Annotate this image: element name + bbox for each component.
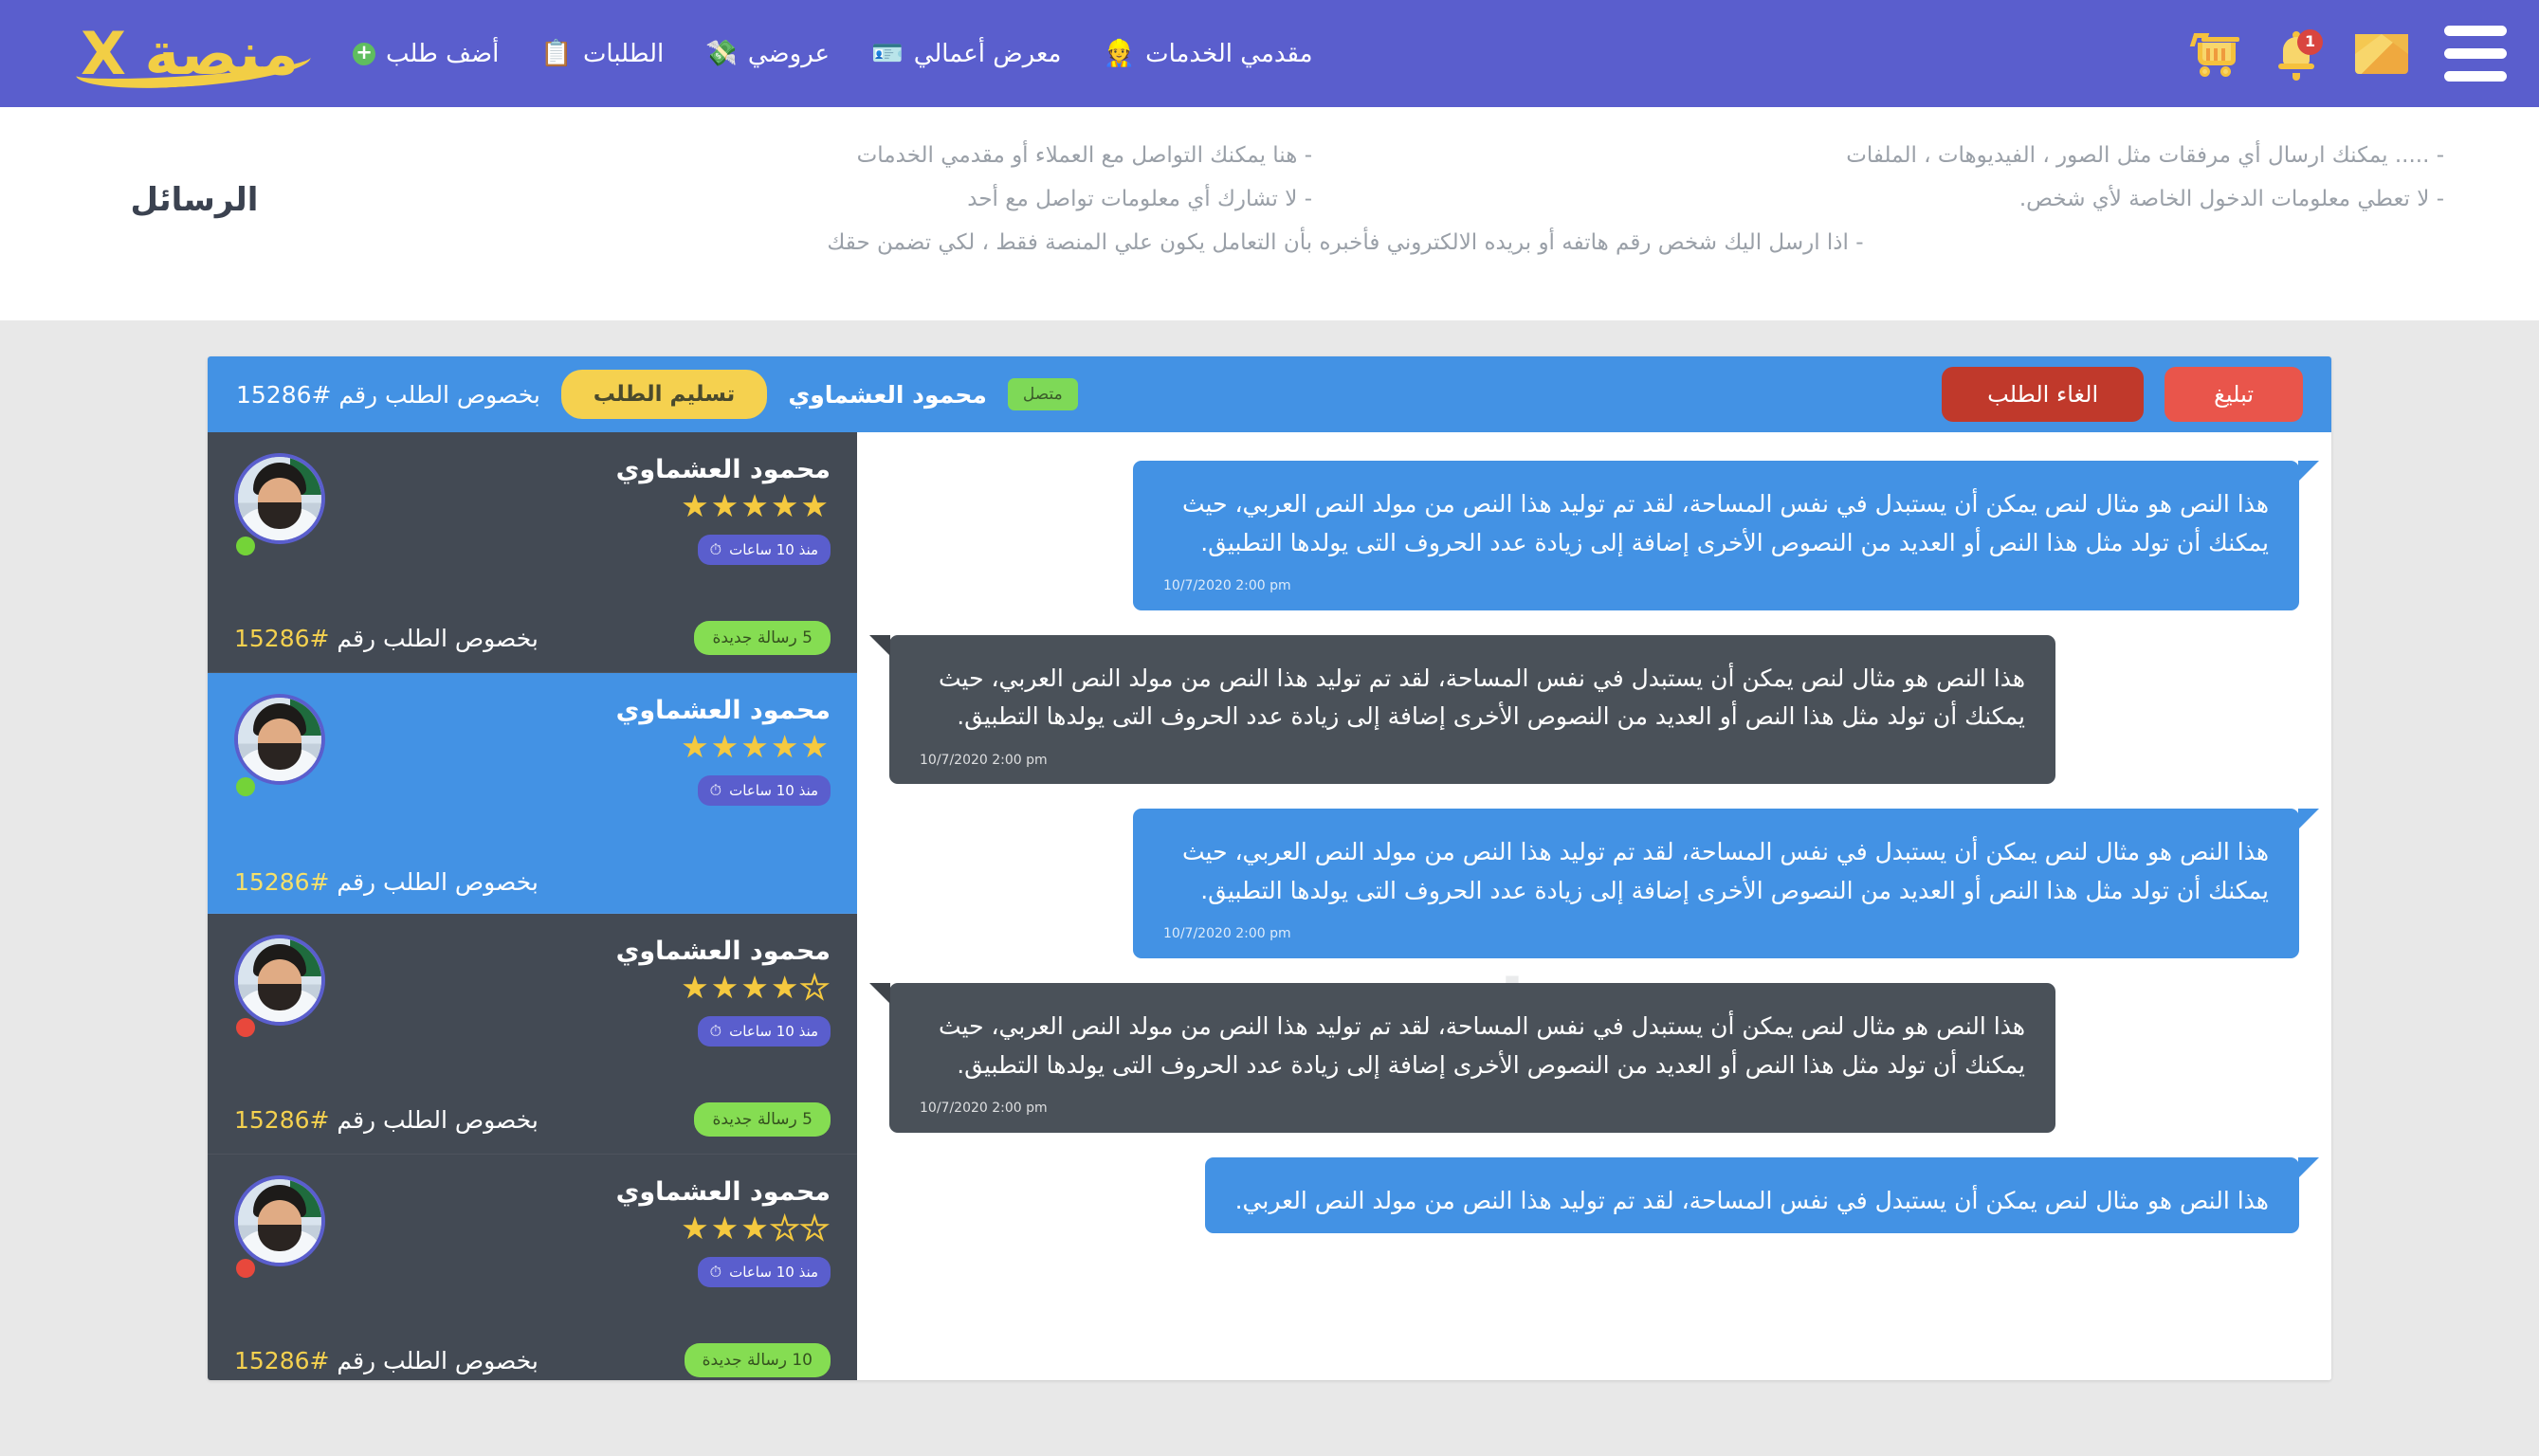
clipboard-icon: 📋 [540, 41, 573, 66]
message-text: هذا النص هو مثال لنص يمكن أن يستبدل في ن… [1163, 833, 2269, 910]
message-bubble-outgoing[interactable]: هذا النص هو مثال لنص يمكن أن يستبدل في ن… [889, 635, 2055, 785]
rating-stars: ★★★★★ [346, 730, 831, 764]
avatar [234, 1175, 325, 1287]
nav-item-orders[interactable]: 📋 الطلبات [520, 30, 685, 78]
list-item-order: بخصوص الطلب رقم #15286 [234, 868, 539, 896]
presence-dot-online [236, 537, 255, 555]
nav-item-portfolio[interactable]: 🪪 معرض أعمالي [850, 30, 1082, 78]
new-messages-badge: 5 رسالة جديدة [694, 621, 831, 655]
chat-panel: بخصوص الطلب رقم #15286 تسليم الطلب محمود… [208, 356, 2331, 1380]
conversation-list[interactable]: محمود العشماوي ★★★★★ ⏱ منذ 10 ساعات بخصو… [208, 432, 857, 1380]
list-item-name: محمود العشماوي [346, 1175, 831, 1209]
info-line-no-share: - لا تشارك أي معلومات تواصل مع أحد [351, 177, 1312, 221]
avatar [234, 694, 325, 806]
messages-pane[interactable]: مستقل mostaql.com هذا النص هو مثال لنص ي… [857, 432, 2331, 1380]
portfolio-card-icon: 🪪 [871, 41, 904, 66]
list-item[interactable]: محمود العشماوي ★★★★★ ⏱ منذ 10 ساعات بخصو… [208, 914, 857, 1155]
info-col-right-1: - هنا يمكنك التواصل مع العملاء أو مقدمي … [351, 134, 1426, 177]
list-item[interactable]: محمود العشماوي ★★★★★ ⏱ منذ 10 ساعات بخصو… [208, 673, 857, 914]
time-text: منذ 10 ساعات [729, 1264, 818, 1281]
clock-icon: ⏱ [710, 1263, 722, 1282]
message-timestamp: 10/7/2020 2:00 pm [920, 1098, 2025, 1119]
nav-item-my-offers[interactable]: 💸 عروضي [685, 30, 850, 78]
presence-dot-online [236, 777, 255, 796]
message-timestamp: 10/7/2020 2:00 pm [1163, 923, 2269, 945]
clock-icon: ⏱ [710, 781, 722, 800]
info-col-left-1: - ..... يمكنك ارسال أي مرفقات مثل الصور … [1426, 134, 2501, 177]
message-timestamp: 10/7/2020 2:00 pm [1163, 575, 2269, 597]
site-logo[interactable]: منصة X [47, 0, 332, 107]
nav-item-add-order[interactable]: + أضف طلب [332, 30, 520, 78]
order-number: #15286 [234, 625, 329, 652]
rating-stars: ★★★★★ [346, 1211, 831, 1246]
deliver-order-button[interactable]: تسليم الطلب [561, 370, 768, 419]
list-item-order: بخصوص الطلب رقم #15286 [234, 1106, 539, 1134]
message-bubble-incoming[interactable]: هذا النص هو مثال لنص يمكن أن يستبدل في ن… [1133, 461, 2299, 610]
chat-body: محمود العشماوي ★★★★★ ⏱ منذ 10 ساعات بخصو… [208, 432, 2331, 1380]
message-text: هذا النص هو مثال لنص يمكن أن يستبدل في ن… [1163, 485, 2269, 562]
info-columns: - هنا يمكنك التواصل مع العملاء أو مقدمي … [351, 128, 2501, 264]
info-line-contact: - هنا يمكنك التواصل مع العملاء أو مقدمي … [351, 134, 1312, 177]
worker-icon: 👷 [1103, 41, 1135, 66]
info-line-no-credentials: - لا تعطي معلومات الدخول الخاصة لأي شخص. [1426, 177, 2444, 221]
bell-icon[interactable]: 1 [2275, 31, 2319, 77]
presence-dot-offline [236, 1259, 255, 1278]
nav-item-portfolio-label: معرض أعمالي [914, 40, 1062, 68]
plus-circle-icon: + [353, 43, 375, 65]
order-number: #15286 [234, 1347, 329, 1374]
new-messages-badge: 5 رسالة جديدة [694, 1102, 831, 1137]
info-row-1: - هنا يمكنك التواصل مع العملاء أو مقدمي … [351, 134, 2501, 177]
time-chip: ⏱ منذ 10 ساعات [698, 1016, 831, 1046]
info-col-wide: - اذا ارسل اليك شخص رقم هاتفه أو بريده ا… [351, 221, 2501, 264]
time-text: منذ 10 ساعات [729, 541, 818, 558]
new-messages-badge: 10 رسالة جديدة [685, 1343, 831, 1377]
info-col-left-2: - لا تعطي معلومات الدخول الخاصة لأي شخص. [1426, 177, 2501, 221]
time-chip: ⏱ منذ 10 ساعات [698, 1257, 831, 1287]
message-bubble-outgoing[interactable]: هذا النص هو مثال لنص يمكن أن يستبدل في ن… [889, 983, 2055, 1133]
info-row-2: - لا تشارك أي معلومات تواصل مع أحد - لا … [351, 177, 2501, 221]
time-text: منذ 10 ساعات [729, 1023, 818, 1040]
cancel-order-button[interactable]: الغاء الطلب [1942, 367, 2144, 422]
message-timestamp: 10/7/2020 2:00 pm [920, 750, 2025, 772]
list-item-name: محمود العشماوي [346, 935, 831, 968]
page-title: الرسائل [38, 128, 351, 219]
list-item[interactable]: محمود العشماوي ★★★★★ ⏱ منذ 10 ساعات بخصو… [208, 432, 857, 673]
message-text: هذا النص هو مثال لنص يمكن أن يستبدل في ن… [920, 1008, 2025, 1084]
time-chip: ⏱ منذ 10 ساعات [698, 775, 831, 806]
info-line-platform-only: - اذا ارسل اليك شخص رقم هاتفه أو بريده ا… [351, 221, 2340, 264]
message-bubble-incoming[interactable]: هذا النص هو مثال لنص يمكن أن يستبدل في ن… [1133, 809, 2299, 958]
notification-badge: 1 [2297, 29, 2323, 55]
info-strip: الرسائل - هنا يمكنك التواصل مع العملاء أ… [0, 107, 2539, 320]
list-item-name: محمود العشماوي [346, 453, 831, 486]
list-item-name: محمود العشماوي [346, 694, 831, 727]
message-row: هذا النص هو مثال لنص يمكن أن يستبدل في ن… [889, 635, 2299, 785]
envelope-icon[interactable] [2355, 34, 2408, 74]
message-row: هذا النص هو مثال لنص يمكن أن يستبدل في ن… [889, 461, 2299, 610]
message-row: هذا النص هو مثال لنص يمكن أن يستبدل في ن… [889, 983, 2299, 1133]
money-hands-icon: 💸 [705, 41, 738, 66]
avatar [234, 935, 325, 1046]
nav-item-service-providers-label: مقدمي الخدمات [1145, 40, 1313, 68]
status-badge: متصل [1008, 378, 1078, 410]
message-row: هذا النص هو مثال لنص يمكن أن يستبدل في ن… [889, 1157, 2299, 1234]
report-button[interactable]: تبليغ [2165, 367, 2303, 422]
info-row-3: - اذا ارسل اليك شخص رقم هاتفه أو بريده ا… [351, 221, 2501, 264]
message-text: هذا النص هو مثال لنص يمكن أن يستبدل في ن… [920, 660, 2025, 737]
list-item-order: بخصوص الطلب رقم #15286 [234, 1347, 539, 1374]
message-bubble-incoming[interactable]: هذا النص هو مثال لنص يمكن أن يستبدل في ن… [1205, 1157, 2299, 1234]
clock-icon: ⏱ [710, 1022, 722, 1041]
avatar [234, 453, 325, 565]
clock-icon: ⏱ [710, 540, 722, 559]
list-item-order: بخصوص الطلب رقم #15286 [234, 625, 539, 652]
time-chip: ⏱ منذ 10 ساعات [698, 535, 831, 565]
chat-header-partner-name: محمود العشماوي [788, 381, 987, 409]
nav-item-my-offers-label: عروضي [748, 40, 830, 68]
chat-header-order-label: بخصوص الطلب رقم #15286 [236, 381, 540, 409]
rating-stars: ★★★★★ [346, 489, 831, 523]
navbar-tools: 1 [2192, 26, 2507, 82]
info-col-right-2: - لا تشارك أي معلومات تواصل مع أحد [351, 177, 1426, 221]
nav-item-service-providers[interactable]: 👷 مقدمي الخدمات [1082, 30, 1333, 78]
message-row: هذا النص هو مثال لنص يمكن أن يستبدل في ن… [889, 809, 2299, 958]
logo-text: منصة X [81, 25, 299, 83]
cart-icon[interactable] [2192, 33, 2239, 75]
info-line-attachments: - ..... يمكنك ارسال أي مرفقات مثل الصور … [1426, 134, 2444, 177]
time-text: منذ 10 ساعات [729, 782, 818, 799]
rating-stars: ★★★★★ [346, 971, 831, 1005]
nav-item-orders-label: الطلبات [583, 40, 664, 68]
message-text: هذا النص هو مثال لنص يمكن أن يستبدل في ن… [1235, 1182, 2269, 1221]
nav-links: + أضف طلب 📋 الطلبات 💸 عروضي 🪪 معرض أعمال… [332, 30, 1334, 78]
list-item[interactable]: محمود العشماوي ★★★★★ ⏱ منذ 10 ساعات بخصو… [208, 1155, 857, 1380]
hamburger-icon[interactable] [2444, 26, 2507, 82]
order-number: #15286 [234, 1106, 329, 1134]
nav-item-add-order-label: أضف طلب [386, 40, 499, 68]
page-body: بخصوص الطلب رقم #15286 تسليم الطلب محمود… [0, 320, 2539, 1456]
presence-dot-offline [236, 1018, 255, 1037]
top-navbar: منصة X + أضف طلب 📋 الطلبات 💸 عروضي 🪪 معر… [0, 0, 2539, 107]
chat-header: بخصوص الطلب رقم #15286 تسليم الطلب محمود… [208, 356, 2331, 432]
order-number: #15286 [234, 868, 329, 896]
